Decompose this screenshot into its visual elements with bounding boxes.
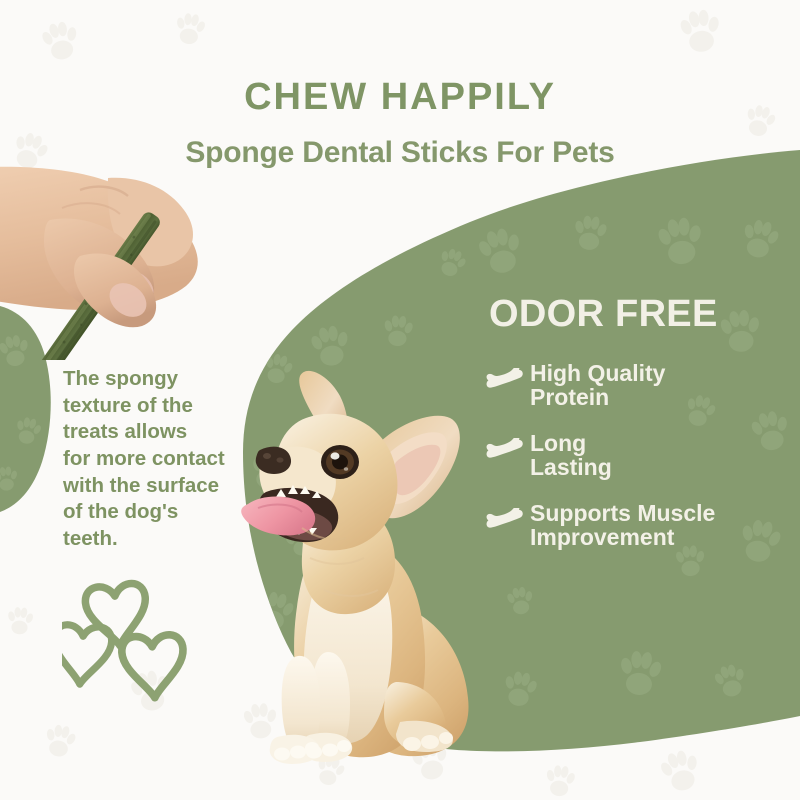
page-title: CHEW HAPPILY [0,78,800,116]
list-item: Long Lasting [484,432,784,480]
hand-holding-stick-image [0,160,318,360]
product-description-text: The spongy texture of the treats allows … [63,366,259,552]
list-item: High Quality Protein [484,362,784,410]
list-item-label: Supports Muscle Improvement [530,502,715,550]
list-item: Supports Muscle Improvement [484,502,784,550]
headline-block: CHEW HAPPILY Sponge Dental Sticks For Pe… [0,78,800,168]
feature-list: High Quality Protein Long Lasting Suppor… [484,362,784,571]
three-hearts-icon [62,578,212,718]
odor-free-heading: ODOR FREE [489,295,718,333]
product-infographic: CHEW HAPPILY Sponge Dental Sticks For Pe… [0,0,800,800]
chihuahua-dog-image [236,352,504,770]
list-item-label: High Quality Protein [530,362,665,410]
list-item-label: Long Lasting [530,432,612,480]
